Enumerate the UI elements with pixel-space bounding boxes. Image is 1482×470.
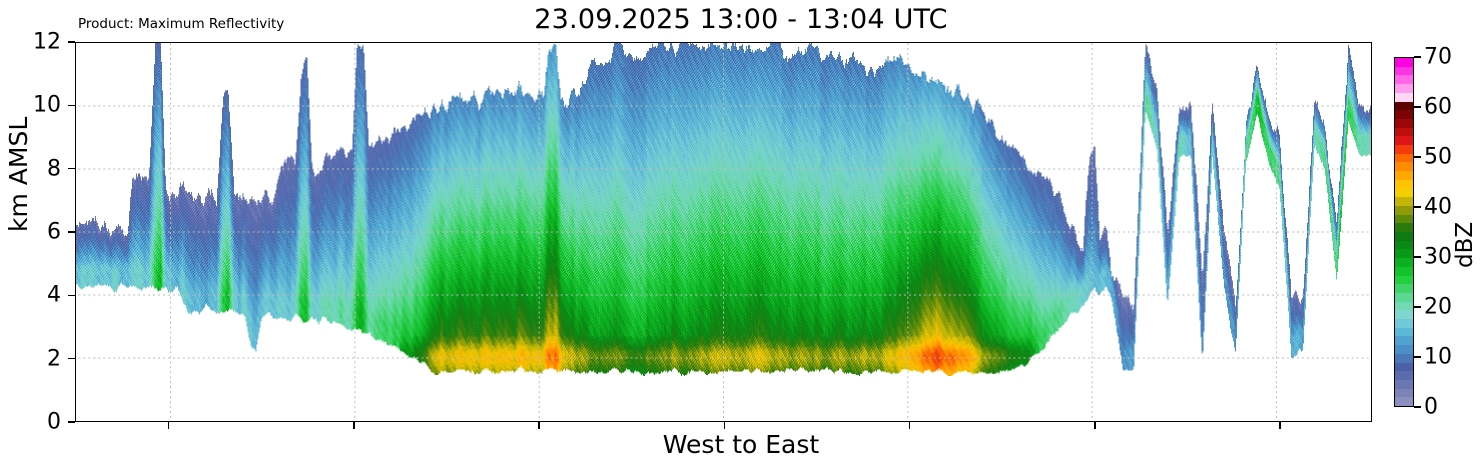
y-tick-mark xyxy=(68,41,75,43)
colorbar-tick-label: 10 xyxy=(1424,345,1452,370)
colorbar-segment xyxy=(1395,327,1413,337)
colorbar-segment xyxy=(1395,118,1413,128)
y-tick-mark xyxy=(68,105,75,107)
colorbar-segment xyxy=(1395,292,1413,302)
colorbar-segment xyxy=(1395,370,1413,380)
y-tick-label: 6 xyxy=(1,220,61,245)
colorbar-segment xyxy=(1395,135,1413,145)
colorbar-segment xyxy=(1395,144,1413,154)
colorbar-segment xyxy=(1395,283,1413,293)
colorbar-segment xyxy=(1395,275,1413,285)
colorbar-tick-mark xyxy=(1414,406,1421,408)
y-tick-mark xyxy=(68,421,75,423)
colorbar-segment xyxy=(1395,162,1413,172)
colorbar-tick-label: 70 xyxy=(1424,45,1452,70)
colorbar-segment xyxy=(1395,318,1413,328)
colorbar-segment xyxy=(1395,153,1413,163)
y-tick-label: 4 xyxy=(1,283,61,308)
colorbar-tick-mark xyxy=(1414,306,1421,308)
colorbar-segment xyxy=(1395,309,1413,319)
colorbar-segment xyxy=(1395,231,1413,241)
colorbar-segment xyxy=(1395,344,1413,354)
y-tick-mark xyxy=(68,231,75,233)
colorbar-segment xyxy=(1395,388,1413,398)
colorbar-tick-mark xyxy=(1414,206,1421,208)
product-label: Product: Maximum Reflectivity xyxy=(78,16,284,32)
x-tick-mark xyxy=(168,422,170,429)
x-tick-mark xyxy=(909,422,911,429)
y-tick-label: 12 xyxy=(1,30,61,55)
colorbar-segment xyxy=(1395,92,1413,102)
y-tick-label: 2 xyxy=(1,346,61,371)
colorbar-segment xyxy=(1395,379,1413,389)
plot-area xyxy=(75,42,1372,422)
colorbar-title: dBZ xyxy=(1452,222,1478,268)
colorbar-segment xyxy=(1395,170,1413,180)
colorbar-segment xyxy=(1395,188,1413,198)
colorbar-tick-label: 30 xyxy=(1424,245,1452,270)
colorbar-tick-label: 20 xyxy=(1424,295,1452,320)
x-tick-mark xyxy=(538,422,540,429)
y-tick-mark xyxy=(68,358,75,360)
colorbar-segment xyxy=(1395,205,1413,215)
colorbar-segment xyxy=(1395,101,1413,111)
colorbar-segment xyxy=(1395,362,1413,372)
colorbar-segment xyxy=(1395,301,1413,311)
colorbar-segment xyxy=(1395,109,1413,119)
colorbar-segment xyxy=(1395,83,1413,93)
colorbar-tick-label: 0 xyxy=(1424,395,1438,420)
y-tick-mark xyxy=(68,295,75,297)
colorbar-segment xyxy=(1395,336,1413,346)
x-tick-mark xyxy=(353,422,355,429)
colorbar-segment xyxy=(1395,57,1413,67)
y-tick-label: 10 xyxy=(1,93,61,118)
colorbar-tick-label: 50 xyxy=(1424,145,1452,170)
colorbar-segment xyxy=(1395,66,1413,76)
x-tick-mark xyxy=(1279,422,1281,429)
colorbar-segment xyxy=(1395,214,1413,224)
colorbar-segment xyxy=(1395,127,1413,137)
colorbar-segment xyxy=(1395,353,1413,363)
colorbar-tick-mark xyxy=(1414,106,1421,108)
colorbar-segment xyxy=(1395,396,1413,406)
colorbar-segment xyxy=(1395,179,1413,189)
colorbar-segment xyxy=(1395,196,1413,206)
radar-cross-section-figure: 23.09.2025 13:00 - 13:04 UTC Product: Ma… xyxy=(0,0,1482,470)
radar-canvas-wrap xyxy=(76,43,1371,421)
x-tick-mark xyxy=(1094,422,1096,429)
x-tick-mark xyxy=(724,422,726,429)
colorbar-segment xyxy=(1395,249,1413,259)
x-axis-label: West to East xyxy=(0,430,1482,459)
y-tick-label: 0 xyxy=(1,410,61,435)
colorbar-tick-mark xyxy=(1414,56,1421,58)
colorbar-tick-mark xyxy=(1414,156,1421,158)
colorbar-tick-mark xyxy=(1414,256,1421,258)
colorbar-segment xyxy=(1395,240,1413,250)
colorbar-segment xyxy=(1395,222,1413,232)
reflectivity-heatmap xyxy=(76,43,1371,421)
colorbar-segment xyxy=(1395,75,1413,85)
colorbar-tick-mark xyxy=(1414,356,1421,358)
colorbar-tick-label: 60 xyxy=(1424,95,1452,120)
colorbar-segment xyxy=(1395,266,1413,276)
colorbar-tick-label: 40 xyxy=(1424,195,1452,220)
colorbar xyxy=(1394,57,1414,407)
y-tick-mark xyxy=(68,168,75,170)
colorbar-segment xyxy=(1395,257,1413,267)
y-tick-label: 8 xyxy=(1,156,61,181)
